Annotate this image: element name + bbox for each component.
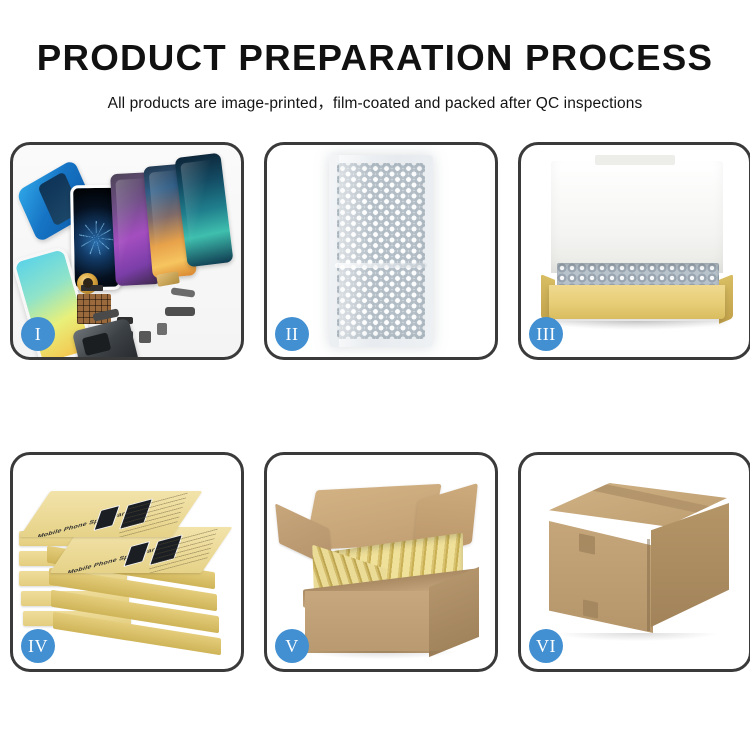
step-panel-6: VI	[518, 452, 750, 672]
inner-box-shadow	[551, 321, 723, 330]
open-shipping-carton	[281, 483, 487, 651]
part-small-4	[157, 323, 167, 335]
bubble-wrap-seam	[335, 263, 427, 268]
step-badge-1: I	[21, 317, 55, 351]
inner-box-lid-tab	[595, 155, 675, 165]
product-preparation-infographic: PRODUCT PREPARATION PROCESS All products…	[0, 0, 750, 750]
part-flex-cable-c	[165, 307, 195, 316]
retail-box-label-1: Mobile Phone Spare Parts	[19, 491, 202, 537]
step-badge-4: IV	[21, 629, 55, 663]
part-gold-connector	[156, 271, 180, 287]
step-badge-3: III	[529, 317, 563, 351]
step-panel-4: Mobile Phone Spare Parts Mobile Phone Sp…	[10, 452, 244, 672]
step-panel-1: I	[10, 142, 244, 360]
step-badge-6: VI	[529, 629, 563, 663]
stacked-retail-boxes: Mobile Phone Spare Parts Mobile Phone Sp…	[19, 473, 235, 649]
bubble-wrapped-item	[329, 155, 433, 347]
step-badge-5: V	[275, 629, 309, 663]
process-steps-grid: I II III	[10, 142, 740, 672]
inner-box-lid	[551, 161, 723, 273]
carton-front-face	[305, 591, 431, 653]
carton-shadow	[307, 651, 457, 659]
step-badge-2: II	[275, 317, 309, 351]
step-panel-2: II	[264, 142, 498, 360]
bubble-wrap-texture	[337, 163, 425, 339]
page-subtitle: All products are image-printed，film-coat…	[0, 91, 750, 113]
sealed-carton-front-face	[549, 521, 653, 633]
sealed-shipping-carton	[543, 483, 735, 643]
spare-parts-group	[77, 273, 241, 357]
step-panel-3: III	[518, 142, 750, 360]
part-flex-cable-b	[171, 287, 196, 297]
sealed-carton-tab-upper	[579, 533, 595, 554]
sealed-carton-tab-lower	[583, 599, 598, 618]
step-panel-5: V	[264, 452, 498, 672]
page-title: PRODUCT PREPARATION PROCESS	[0, 40, 750, 76]
part-small-3	[139, 331, 151, 343]
sealed-carton-shadow	[557, 633, 717, 641]
header: PRODUCT PREPARATION PROCESS All products…	[0, 0, 750, 113]
sealed-carton-corner-seam	[647, 539, 650, 631]
inner-box-front	[549, 285, 725, 319]
